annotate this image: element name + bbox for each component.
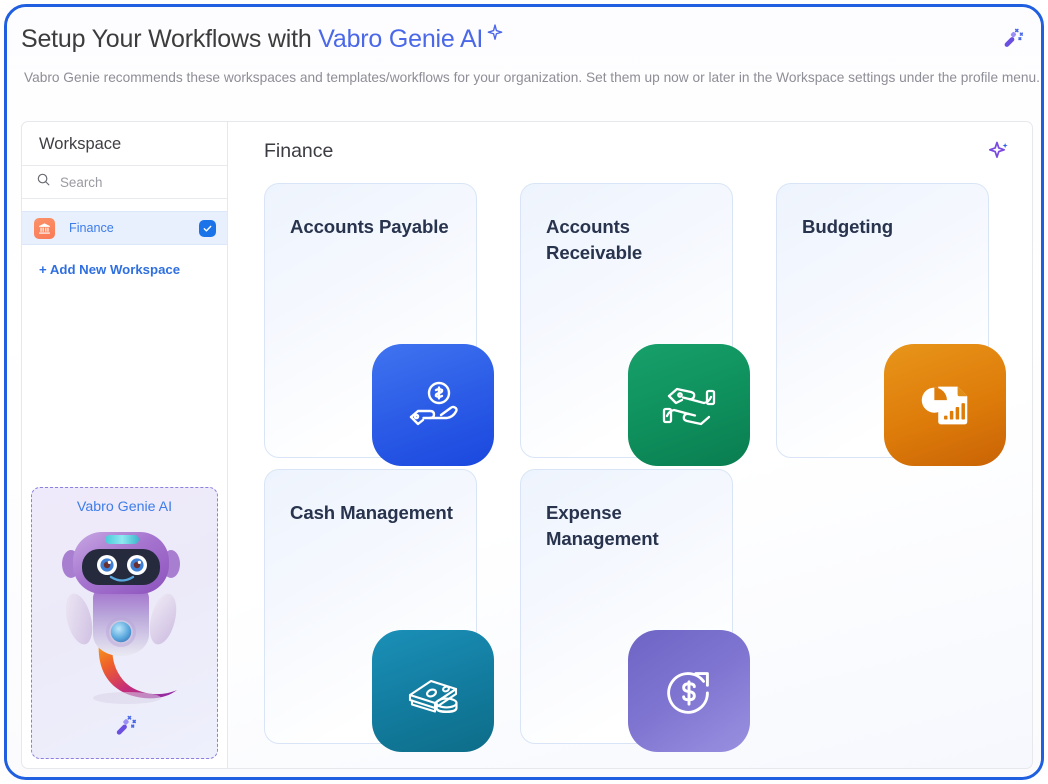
template-card-title: Budgeting [802, 214, 977, 240]
magic-wand-icon[interactable] [995, 21, 1029, 55]
page-title-prefix: Setup Your Workflows with [21, 25, 318, 53]
sidebar-item-finance[interactable]: Finance [22, 211, 227, 245]
page-title-brand: Vabro Genie AI [318, 25, 483, 53]
checkmark-icon[interactable] [199, 220, 216, 237]
ai-sparkle-icon[interactable] [984, 137, 1012, 165]
search-icon [36, 172, 51, 192]
cash-stack-icon [372, 630, 494, 752]
add-new-workspace-button[interactable]: + Add New Workspace [22, 262, 227, 277]
template-card-expense-management[interactable]: Expense Management [520, 469, 733, 744]
template-card-title: Accounts Receivable [546, 214, 721, 267]
header: Setup Your Workflows with Vabro Genie AI… [7, 7, 1041, 115]
hands-exchange-icon [628, 344, 750, 466]
search-input[interactable] [60, 175, 210, 190]
template-card-accounts-receivable[interactable]: Accounts Receivable [520, 183, 733, 458]
sparkle-icon [485, 21, 505, 50]
body-area: Workspace Fin [21, 121, 1033, 769]
genie-card-title: Vabro Genie AI [32, 499, 217, 515]
genie-robot-illustration [49, 522, 201, 722]
main-panel-header: Finance [228, 122, 1032, 176]
template-card-grid: Accounts Payable Account [264, 183, 1004, 744]
template-card-title: Expense Management [546, 500, 721, 553]
template-card-title: Cash Management [290, 500, 465, 526]
page-title: Setup Your Workflows with Vabro Genie AI [21, 21, 505, 54]
template-card-budgeting[interactable]: Budgeting [776, 183, 989, 458]
dollar-growth-arrow-icon [628, 630, 750, 752]
main-panel: Finance Accounts Payable [228, 121, 1033, 769]
search-row[interactable] [22, 166, 227, 199]
report-chart-doc-icon [884, 344, 1006, 466]
app-window: Setup Your Workflows with Vabro Genie AI… [4, 4, 1044, 780]
header-subtitle: Vabro Genie recommends these workspaces … [24, 67, 1040, 89]
hand-holding-dollar-icon [372, 344, 494, 466]
section-title: Finance [264, 140, 333, 163]
workspace-sidebar: Workspace Fin [21, 121, 228, 769]
template-card-cash-management[interactable]: Cash Management [264, 469, 477, 744]
template-card-accounts-payable[interactable]: Accounts Payable [264, 183, 477, 458]
window-inner: Setup Your Workflows with Vabro Genie AI… [7, 7, 1041, 777]
sidebar-title: Workspace [22, 122, 227, 166]
magic-wand-icon[interactable] [112, 713, 138, 744]
template-card-title: Accounts Payable [290, 214, 465, 240]
bank-icon [34, 218, 55, 239]
genie-ai-card[interactable]: Vabro Genie AI [31, 487, 218, 759]
sidebar-item-label: Finance [69, 221, 199, 235]
